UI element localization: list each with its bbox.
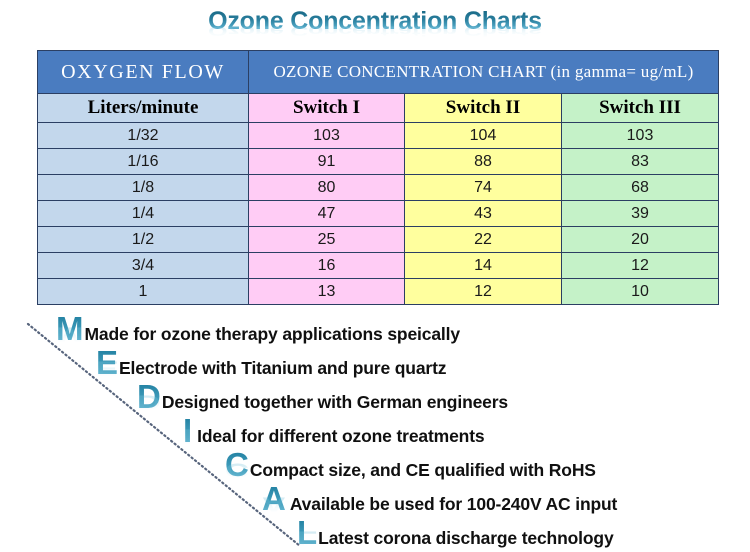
cell-flow: 1/32 bbox=[38, 123, 249, 149]
cell-switch-3: 12 bbox=[562, 253, 719, 279]
cell-switch-3: 83 bbox=[562, 149, 719, 175]
medical-item-text: Latest corona discharge technology bbox=[318, 528, 613, 549]
cell-switch-3: 68 bbox=[562, 175, 719, 201]
cell-flow: 1/4 bbox=[38, 201, 249, 227]
header-ozone-concentration-chart: OZONE CONCENTRATION CHART (in gamma= ug/… bbox=[249, 51, 719, 94]
cell-switch-1: 103 bbox=[249, 123, 405, 149]
cell-switch-1: 13 bbox=[249, 279, 405, 305]
cell-flow: 1 bbox=[38, 279, 249, 305]
cell-switch-2: 14 bbox=[405, 253, 562, 279]
column-header-switch-2: Switch II bbox=[405, 94, 562, 123]
table-header-row-columns: Liters/minute Switch I Switch II Switch … bbox=[38, 94, 719, 123]
cell-switch-2: 43 bbox=[405, 201, 562, 227]
table-row: 1/4 47 43 39 bbox=[38, 201, 719, 227]
acronym-letter-e: E bbox=[96, 346, 118, 379]
cell-flow: 1/16 bbox=[38, 149, 249, 175]
table-row: 3/4 16 14 12 bbox=[38, 253, 719, 279]
medical-item-text: Compact size, and CE qualified with RoHS bbox=[250, 460, 596, 481]
ozone-concentration-table: OXYGEN FLOW OZONE CONCENTRATION CHART (i… bbox=[37, 50, 719, 305]
column-header-switch-3: Switch III bbox=[562, 94, 719, 123]
medical-item-m: M Made for ozone therapy applications sp… bbox=[56, 312, 460, 346]
medical-item-i: I Ideal for different ozone treatments bbox=[183, 414, 484, 448]
acronym-letter-m: M bbox=[56, 312, 84, 345]
table-row: 1/8 80 74 68 bbox=[38, 175, 719, 201]
header-oxygen-flow: OXYGEN FLOW bbox=[38, 51, 249, 94]
table-row: 1/16 91 88 83 bbox=[38, 149, 719, 175]
cell-switch-1: 25 bbox=[249, 227, 405, 253]
cell-switch-2: 22 bbox=[405, 227, 562, 253]
acronym-letter-l: L bbox=[297, 516, 317, 549]
cell-flow: 3/4 bbox=[38, 253, 249, 279]
cell-switch-3: 20 bbox=[562, 227, 719, 253]
medical-item-text: Electrode with Titanium and pure quartz bbox=[119, 358, 446, 379]
cell-switch-2: 12 bbox=[405, 279, 562, 305]
cell-switch-3: 39 bbox=[562, 201, 719, 227]
medical-item-l: L Latest corona discharge technology bbox=[297, 516, 614, 550]
cell-switch-3: 103 bbox=[562, 123, 719, 149]
cell-flow: 1/2 bbox=[38, 227, 249, 253]
medical-item-text: Designed together with German engineers bbox=[162, 392, 508, 413]
cell-switch-2: 74 bbox=[405, 175, 562, 201]
cell-switch-1: 80 bbox=[249, 175, 405, 201]
cell-switch-1: 47 bbox=[249, 201, 405, 227]
medical-item-a: A Available be used for 100-240V AC inpu… bbox=[262, 482, 617, 516]
acronym-letter-a: A bbox=[262, 482, 286, 515]
page-title: Ozone Concentration Charts bbox=[208, 8, 542, 34]
cell-switch-3: 10 bbox=[562, 279, 719, 305]
medical-item-c: C Compact size, and CE qualified with Ro… bbox=[225, 448, 596, 482]
cell-switch-1: 16 bbox=[249, 253, 405, 279]
medical-feature-list: M Made for ozone therapy applications sp… bbox=[0, 312, 750, 552]
acronym-letter-c: C bbox=[225, 448, 249, 481]
table-row: 1 13 12 10 bbox=[38, 279, 719, 305]
medical-item-e: E Electrode with Titanium and pure quart… bbox=[96, 346, 446, 380]
medical-item-text: Made for ozone therapy applications spei… bbox=[85, 324, 460, 345]
medical-item-text: Ideal for different ozone treatments bbox=[197, 426, 484, 447]
cell-flow: 1/8 bbox=[38, 175, 249, 201]
column-header-switch-1: Switch I bbox=[249, 94, 405, 123]
cell-switch-2: 104 bbox=[405, 123, 562, 149]
cell-switch-2: 88 bbox=[405, 149, 562, 175]
column-header-liters-per-minute: Liters/minute bbox=[38, 94, 249, 123]
table-header-row-top: OXYGEN FLOW OZONE CONCENTRATION CHART (i… bbox=[38, 51, 719, 94]
cell-switch-1: 91 bbox=[249, 149, 405, 175]
table-row: 1/2 25 22 20 bbox=[38, 227, 719, 253]
acronym-letter-d: D bbox=[137, 380, 161, 413]
table-row: 1/32 103 104 103 bbox=[38, 123, 719, 149]
title-area: Ozone Concentration Charts Ozone Concent… bbox=[0, 8, 750, 54]
acronym-letter-i: I bbox=[183, 414, 192, 447]
table-body: 1/32 103 104 103 1/16 91 88 83 1/8 80 74… bbox=[38, 123, 719, 305]
medical-item-text: Available be used for 100-240V AC input bbox=[290, 494, 617, 515]
medical-item-d: D Designed together with German engineer… bbox=[137, 380, 508, 414]
